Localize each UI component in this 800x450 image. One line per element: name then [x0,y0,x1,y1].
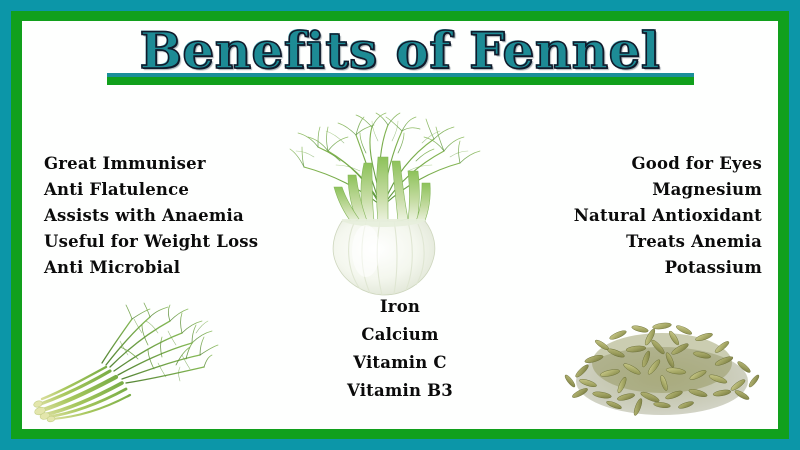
list-item: Magnesium [574,177,762,203]
list-item: Assists with Anaemia [44,203,258,229]
list-item: Anti Microbial [44,255,258,281]
bulb-body [333,221,435,295]
list-item: Anti Flatulence [44,177,258,203]
fennel-seeds-image [558,301,766,427]
list-item: Useful for Weight Loss [44,229,258,255]
fennel-greens-image [30,299,220,427]
fennel-greens-illustration [30,299,220,427]
list-item: Potassium [574,255,762,281]
benefits-left-list: Great Immuniser Anti Flatulence Assists … [44,151,258,281]
list-item: Great Immuniser [44,151,258,177]
fennel-seeds-illustration [558,301,766,427]
fennel-bulb-illustration [268,109,498,299]
list-item: Treats Anemia [574,229,762,255]
title-underline-bar [107,73,694,85]
list-item: Good for Eyes [574,151,762,177]
list-item: Natural Antioxidant [574,203,762,229]
title-underline-green [107,77,694,85]
nutrients-center-list: Iron Calcium Vitamin C Vitamin B3 [250,293,550,405]
fennel-bulb-image [268,109,498,299]
list-item: Vitamin C [250,349,550,377]
page-title: Benefits of Fennel [140,23,661,79]
list-item: Vitamin B3 [250,377,550,405]
infographic-poster: Benefits of Fennel Great Immuniser Anti … [0,0,800,450]
title-area: Benefits of Fennel [22,23,778,79]
benefits-right-list: Good for Eyes Magnesium Natural Antioxid… [574,151,762,281]
poster-canvas: Benefits of Fennel Great Immuniser Anti … [22,21,778,429]
list-item: Calcium [250,321,550,349]
